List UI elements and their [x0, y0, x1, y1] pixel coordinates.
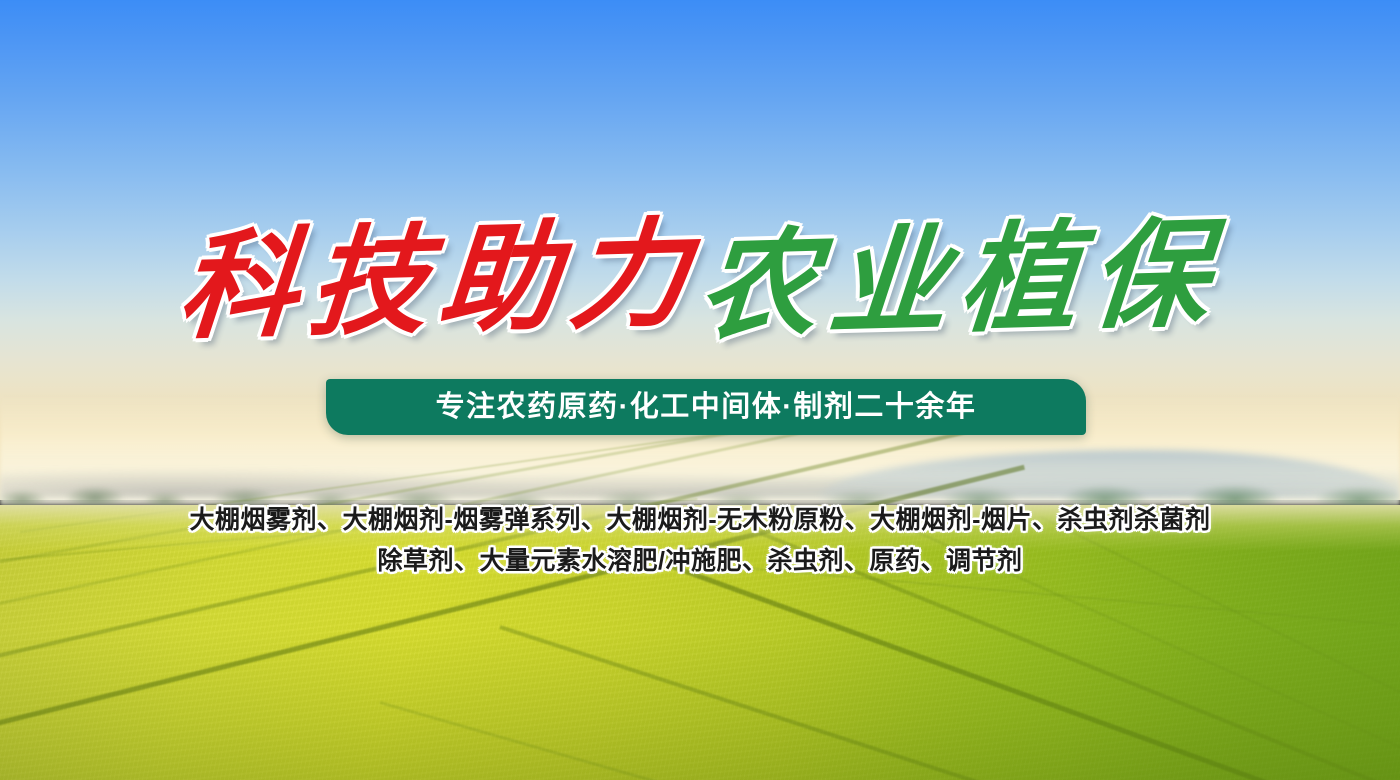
product-line-1: 大棚烟雾剂、大棚烟剂-烟雾弹系列、大棚烟剂-无木粉原粉、大棚烟剂-烟片、杀虫剂杀…	[0, 500, 1400, 541]
product-list: 大棚烟雾剂、大棚烟剂-烟雾弹系列、大棚烟剂-无木粉原粉、大棚烟剂-烟片、杀虫剂杀…	[0, 500, 1400, 582]
headline-segment-red: 科技助力	[174, 203, 706, 357]
headline: 科技助力农业植保	[0, 210, 1400, 350]
field-shadow-overlay	[0, 630, 1400, 780]
promo-banner: 科技助力农业植保 专注农药原药·化工中间体·制剂二十余年 大棚烟雾剂、大棚烟剂-…	[0, 0, 1400, 780]
headline-segment-green: 农业植保	[694, 203, 1226, 357]
subtitle-text: 专注农药原药·化工中间体·制剂二十余年	[436, 393, 977, 422]
subtitle-pill: 专注农药原药·化工中间体·制剂二十余年	[326, 379, 1086, 435]
product-line-2: 除草剂、大量元素水溶肥/冲施肥、杀虫剂、原药、调节剂	[0, 541, 1400, 582]
